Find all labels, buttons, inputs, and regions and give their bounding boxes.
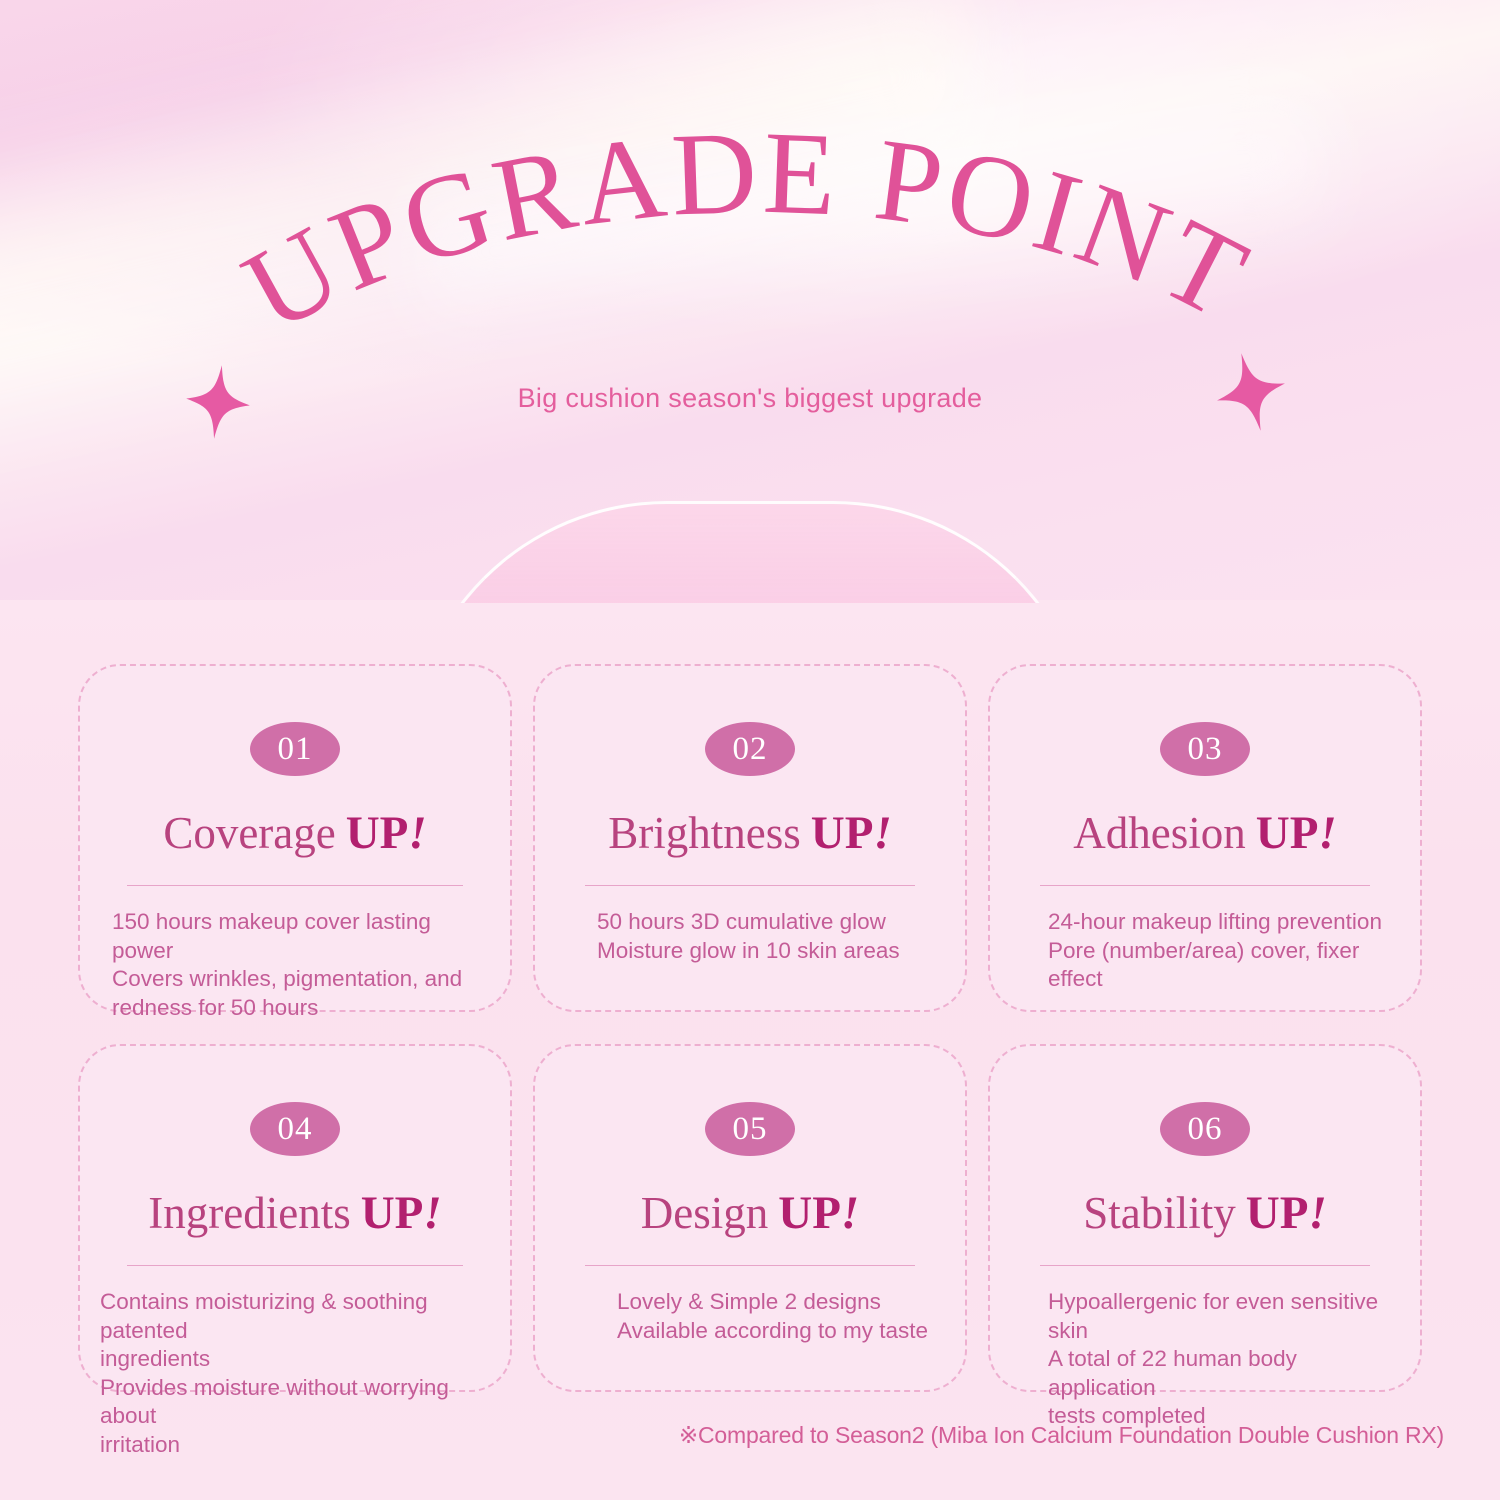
- upgrade-points-grid: 01 CoverageUP! 150 hours makeup cover la…: [78, 664, 1436, 1392]
- card-title-word: Adhesion: [1073, 808, 1246, 858]
- card-number-badge: 05: [705, 1102, 795, 1156]
- card-title-word: Ingredients: [148, 1188, 350, 1238]
- card-title: StabilityUP!: [990, 1186, 1420, 1240]
- card-title-up-text: UP: [346, 807, 409, 859]
- sparkle-star-icon: [182, 362, 253, 442]
- card-title-word: Brightness: [608, 808, 801, 858]
- card-title-up-text: UP: [361, 1187, 424, 1239]
- card-title-up: UP!: [778, 1187, 859, 1239]
- upgrade-card-06: 06 StabilityUP! Hypoallergenic for even …: [988, 1044, 1422, 1392]
- upgrade-card-05: 05 DesignUP! Lovely & Simple 2 designs A…: [533, 1044, 967, 1392]
- card-divider: [127, 885, 463, 886]
- card-number-badge: 01: [250, 722, 340, 776]
- card-title-exclamation: !: [1318, 807, 1336, 859]
- card-title-up: UP!: [811, 807, 892, 859]
- card-title-up: UP!: [1256, 807, 1337, 859]
- card-title-up: UP!: [1246, 1187, 1327, 1239]
- card-divider: [127, 1265, 463, 1266]
- card-title-word: Stability: [1083, 1188, 1236, 1238]
- upgrade-card-02: 02 BrightnessUP! 50 hours 3D cumulative …: [533, 664, 967, 1012]
- card-title: AdhesionUP!: [990, 806, 1420, 860]
- card-title: IngredientsUP!: [80, 1186, 510, 1240]
- card-body-text: 50 hours 3D cumulative glow Moisture glo…: [535, 908, 965, 965]
- card-title-up-text: UP: [778, 1187, 841, 1239]
- card-title-up-text: UP: [811, 807, 874, 859]
- card-title: DesignUP!: [535, 1186, 965, 1240]
- card-title-word: Design: [641, 1188, 769, 1238]
- card-divider: [1040, 885, 1370, 886]
- card-body-text: 150 hours makeup cover lasting power Cov…: [80, 908, 510, 1022]
- upgrade-card-03: 03 AdhesionUP! 24-hour makeup lifting pr…: [988, 664, 1422, 1012]
- card-number-badge: 04: [250, 1102, 340, 1156]
- card-title-up-text: UP: [1256, 807, 1319, 859]
- card-number-badge: 06: [1160, 1102, 1250, 1156]
- card-title-up: UP!: [361, 1187, 442, 1239]
- footnote-text: ※Compared to Season2 (Miba Ion Calcium F…: [0, 1422, 1500, 1449]
- upgrade-card-01: 01 CoverageUP! 150 hours makeup cover la…: [78, 664, 512, 1012]
- card-body-text: Hypoallergenic for even sensitive skin A…: [990, 1288, 1420, 1431]
- card-title: CoverageUP!: [80, 806, 510, 860]
- card-title-word: Coverage: [163, 808, 335, 858]
- card-divider: [1040, 1265, 1370, 1266]
- card-title-up-text: UP: [1246, 1187, 1309, 1239]
- card-divider: [585, 885, 915, 886]
- card-title-up: UP!: [346, 807, 427, 859]
- card-title-exclamation: !: [423, 1187, 441, 1239]
- card-title-exclamation: !: [1308, 1187, 1326, 1239]
- upgrade-point-infographic: UPGRADE POINT Big cushion season's bigge…: [0, 0, 1500, 1500]
- card-title-exclamation: !: [841, 1187, 859, 1239]
- card-body-text: Lovely & Simple 2 designs Available acco…: [535, 1288, 965, 1345]
- card-title-exclamation: !: [408, 807, 426, 859]
- card-title-exclamation: !: [873, 807, 891, 859]
- card-number-badge: 03: [1160, 722, 1250, 776]
- upgrade-card-04: 04 IngredientsUP! Contains moisturizing …: [78, 1044, 512, 1392]
- card-title: BrightnessUP!: [535, 806, 965, 860]
- card-body-text: 24-hour makeup lifting prevention Pore (…: [990, 908, 1420, 994]
- card-number-badge: 02: [705, 722, 795, 776]
- card-divider: [585, 1265, 915, 1266]
